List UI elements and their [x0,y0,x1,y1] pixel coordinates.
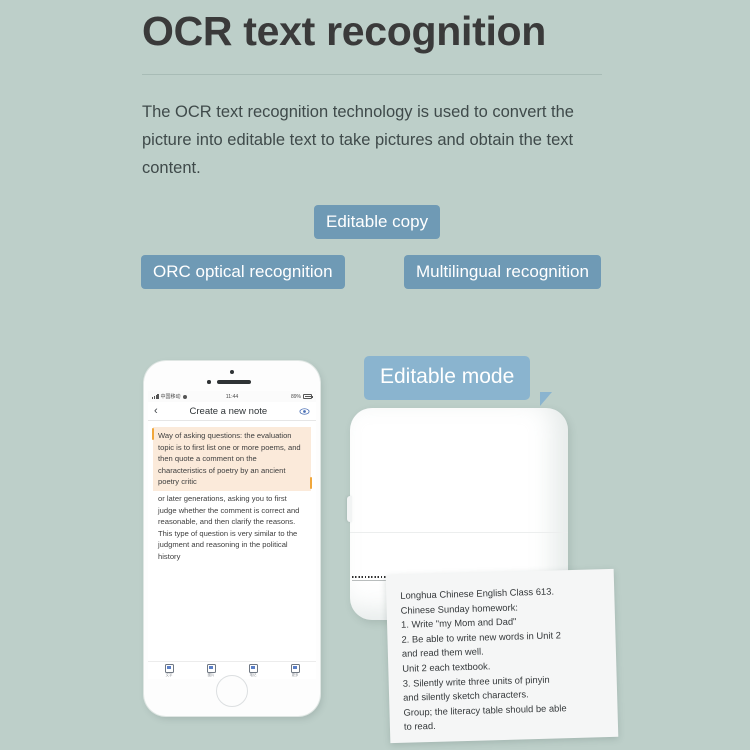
phone-mockup: 中国移动 11:44 89% ‹ Create a new note Way o… [144,361,320,716]
status-bar-left: 中国移动 [152,393,226,400]
toolbar-item-image[interactable]: 图片 [207,664,216,677]
printer-seam [350,532,568,533]
home-button[interactable] [216,675,248,707]
note-highlighted-text[interactable]: Way of asking questions: the evaluation … [153,427,311,491]
intro-paragraph: The OCR text recognition technology is u… [142,98,612,182]
badge-editable-copy[interactable]: Editable copy [314,205,440,239]
wifi-icon [183,395,187,399]
toolbar-label-text: 文字 [166,674,173,677]
status-bar-right: 89% [238,394,312,400]
phone-speaker-icon [217,380,251,384]
toolbar-item-text[interactable]: 文字 [165,664,174,677]
toolbar-label-note: 笔记 [250,674,257,677]
note-navbar: ‹ Create a new note [148,402,316,421]
signal-bars-icon [152,394,159,399]
note-highlight-content: Way of asking questions: the evaluation … [158,431,301,486]
title-divider [142,74,602,75]
eye-icon[interactable] [299,406,310,417]
phone-camera-icon [230,370,234,374]
grid-tool-icon [291,664,300,673]
toolbar-label-image: 图片 [208,674,215,677]
selection-handle-end[interactable] [310,477,312,489]
selection-handle-start[interactable] [152,428,154,440]
badge-orc-optical-recognition[interactable]: ORC optical recognition [141,255,345,289]
battery-percent-label: 89% [291,394,301,400]
callout-tail [540,392,552,406]
phone-sensor-icon [207,380,211,384]
image-tool-icon [207,664,216,673]
note-tool-icon [249,664,258,673]
badge-multilingual-recognition[interactable]: Multilingual recognition [404,255,601,289]
carrier-label: 中国移动 [161,393,181,400]
note-remaining-text: or later generations, asking you to firs… [155,491,309,563]
toolbar-item-more[interactable]: 更多 [291,664,300,677]
status-bar-time: 11:44 [226,394,239,400]
toolbar-label-more: 更多 [292,674,299,677]
phone-screen: 中国移动 11:44 89% ‹ Create a new note Way o… [148,391,316,679]
note-body[interactable]: Way of asking questions: the evaluation … [148,421,316,563]
printed-receipt: Longhua Chinese English Class 613. Chine… [386,569,619,743]
editable-mode-callout[interactable]: Editable mode [364,356,530,400]
page-title: OCR text recognition [142,8,546,55]
toolbar-item-note[interactable]: 笔记 [249,664,258,677]
printer-power-button[interactable] [347,496,352,522]
text-tool-icon [165,664,174,673]
battery-icon [303,394,312,399]
status-bar: 中国移动 11:44 89% [148,391,316,402]
note-title: Create a new note [158,406,299,417]
